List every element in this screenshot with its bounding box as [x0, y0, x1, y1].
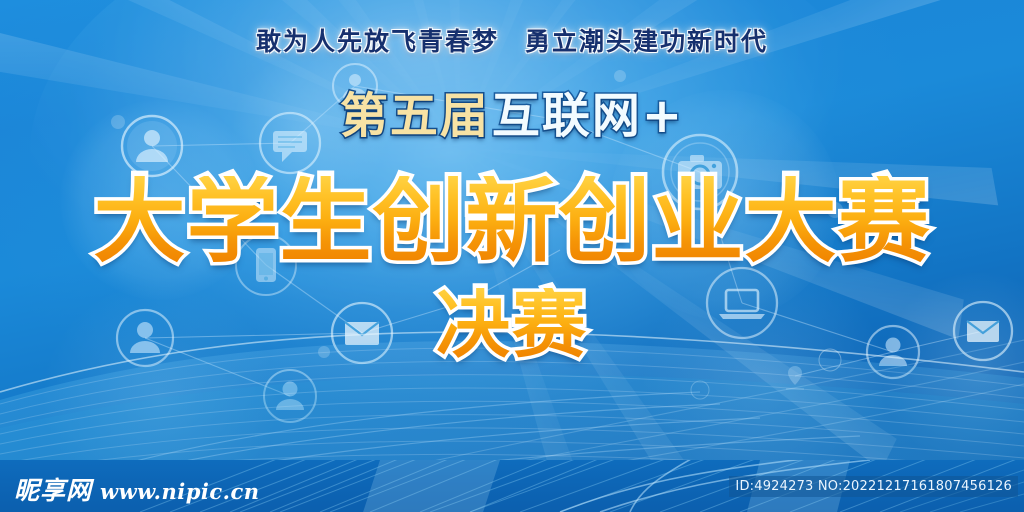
watermark-asset-id: ID:4924273 NO:20221217161807456126	[729, 476, 1018, 497]
main-title-wrapper: 大学生创新创业大赛 大学生创新创业大赛	[93, 176, 930, 268]
subtitle-line: 第五届互联网+	[0, 92, 1024, 140]
slogan-left-text: 敢为人先放飞青春梦	[256, 27, 499, 56]
watermark-site-name: 昵享网	[14, 471, 92, 507]
stage-line: 决赛 决赛	[0, 288, 1024, 362]
stage-wrapper: 决赛 决赛	[436, 288, 588, 362]
slogan-line: 敢为人先放飞青春梦勇立潮头建功新时代	[0, 22, 1024, 58]
watermark-logo: 昵享网 www.nipic.cn	[14, 471, 260, 507]
watermark-band: 昵享网 www.nipic.cn ID:4924273 NO:202212171…	[0, 460, 1024, 512]
internet-plus-text: 互联网+	[492, 88, 684, 144]
edition-text: 第五届	[340, 88, 490, 144]
main-title-line: 大学生创新创业大赛 大学生创新创业大赛	[0, 176, 1024, 268]
main-title-text: 大学生创新创业大赛	[93, 176, 930, 268]
poster-canvas: 敢为人先放飞青春梦勇立潮头建功新时代 第五届互联网+ 大学生创新创业大赛 大学生…	[0, 0, 1024, 512]
stage-text: 决赛	[436, 288, 588, 362]
slogan-right-text: 勇立潮头建功新时代	[525, 27, 768, 56]
watermark-site-url: www.nipic.cn	[100, 479, 260, 504]
